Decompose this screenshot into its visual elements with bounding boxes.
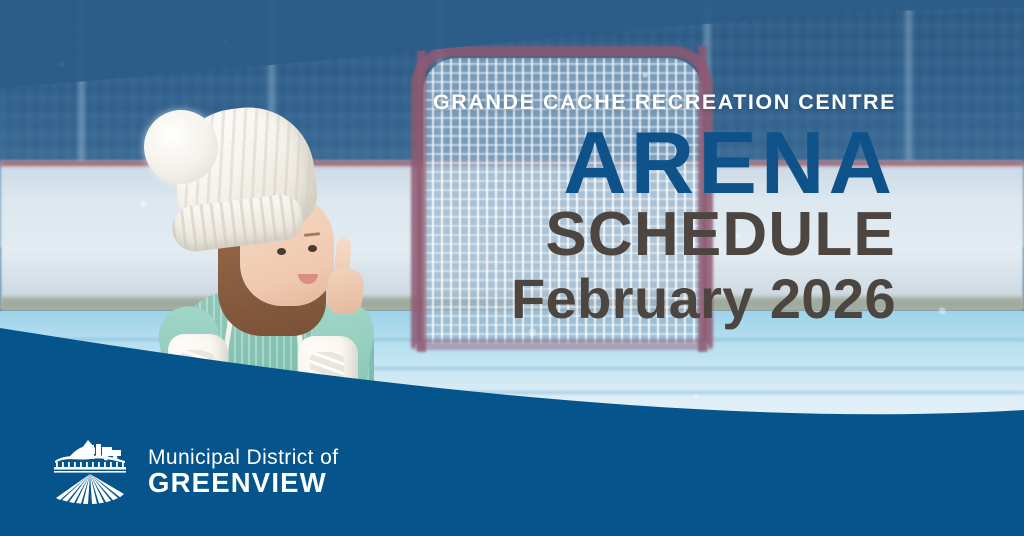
logo-line-municipal-district: Municipal District of xyxy=(148,446,338,470)
page-title-arena: ARENA xyxy=(433,123,896,204)
hat-pompom xyxy=(144,110,218,184)
eye xyxy=(308,245,317,252)
eye xyxy=(277,248,286,255)
logo-wordmark: Municipal District of GREENVIEW xyxy=(148,446,338,498)
headline-text-block: GRANDE CACHE RECREATION CENTRE ARENA SCH… xyxy=(433,92,896,331)
top-wave-divider xyxy=(0,0,1024,96)
facility-name-kicker: GRANDE CACHE RECREATION CENTRE xyxy=(433,92,896,114)
arena-schedule-banner: GRANDE CACHE RECREATION CENTRE ARENA SCH… xyxy=(0,0,1024,536)
page-title-schedule: SCHEDULE xyxy=(433,203,896,267)
logo-line-greenview: GREENVIEW xyxy=(148,469,338,498)
greenview-logo[interactable]: Municipal District of GREENVIEW xyxy=(48,440,338,504)
greenview-crest-icon xyxy=(48,440,132,504)
page-title-month: February 2026 xyxy=(433,268,896,331)
